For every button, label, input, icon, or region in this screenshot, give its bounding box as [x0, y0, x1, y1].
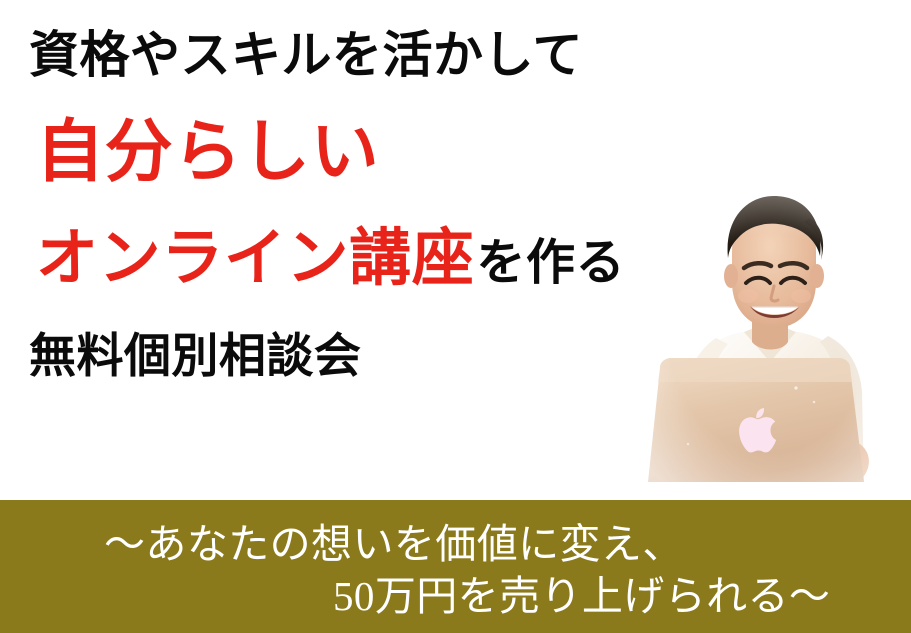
headline-block: 資格やスキルを活かして 自分らしい オンライン講座 を作る 無料個別相談会: [0, 0, 700, 500]
tagline-line-2: 50万円を売り上げられる〜: [333, 576, 830, 617]
headline-line-3: オンライン講座 を作る: [36, 227, 625, 289]
headline-line-2-highlight: 自分らしい: [36, 119, 379, 187]
headline-line-1: 資格やスキルを活かして: [29, 30, 583, 80]
headline-line-4-offer: 無料個別相談会: [29, 333, 361, 380]
tagline-line-1: 〜あなたの想いを価値に変え、: [104, 524, 684, 565]
headline-line-3-highlight: オンライン講座: [36, 227, 474, 289]
promo-banner-canvas: 資格やスキルを活かして 自分らしい オンライン講座 を作る 無料個別相談会 〜あ…: [0, 0, 911, 633]
headline-line-3-suffix: を作る: [476, 238, 625, 287]
tagline-banner: 〜あなたの想いを価値に変え、 50万円を売り上げられる〜: [0, 500, 911, 633]
